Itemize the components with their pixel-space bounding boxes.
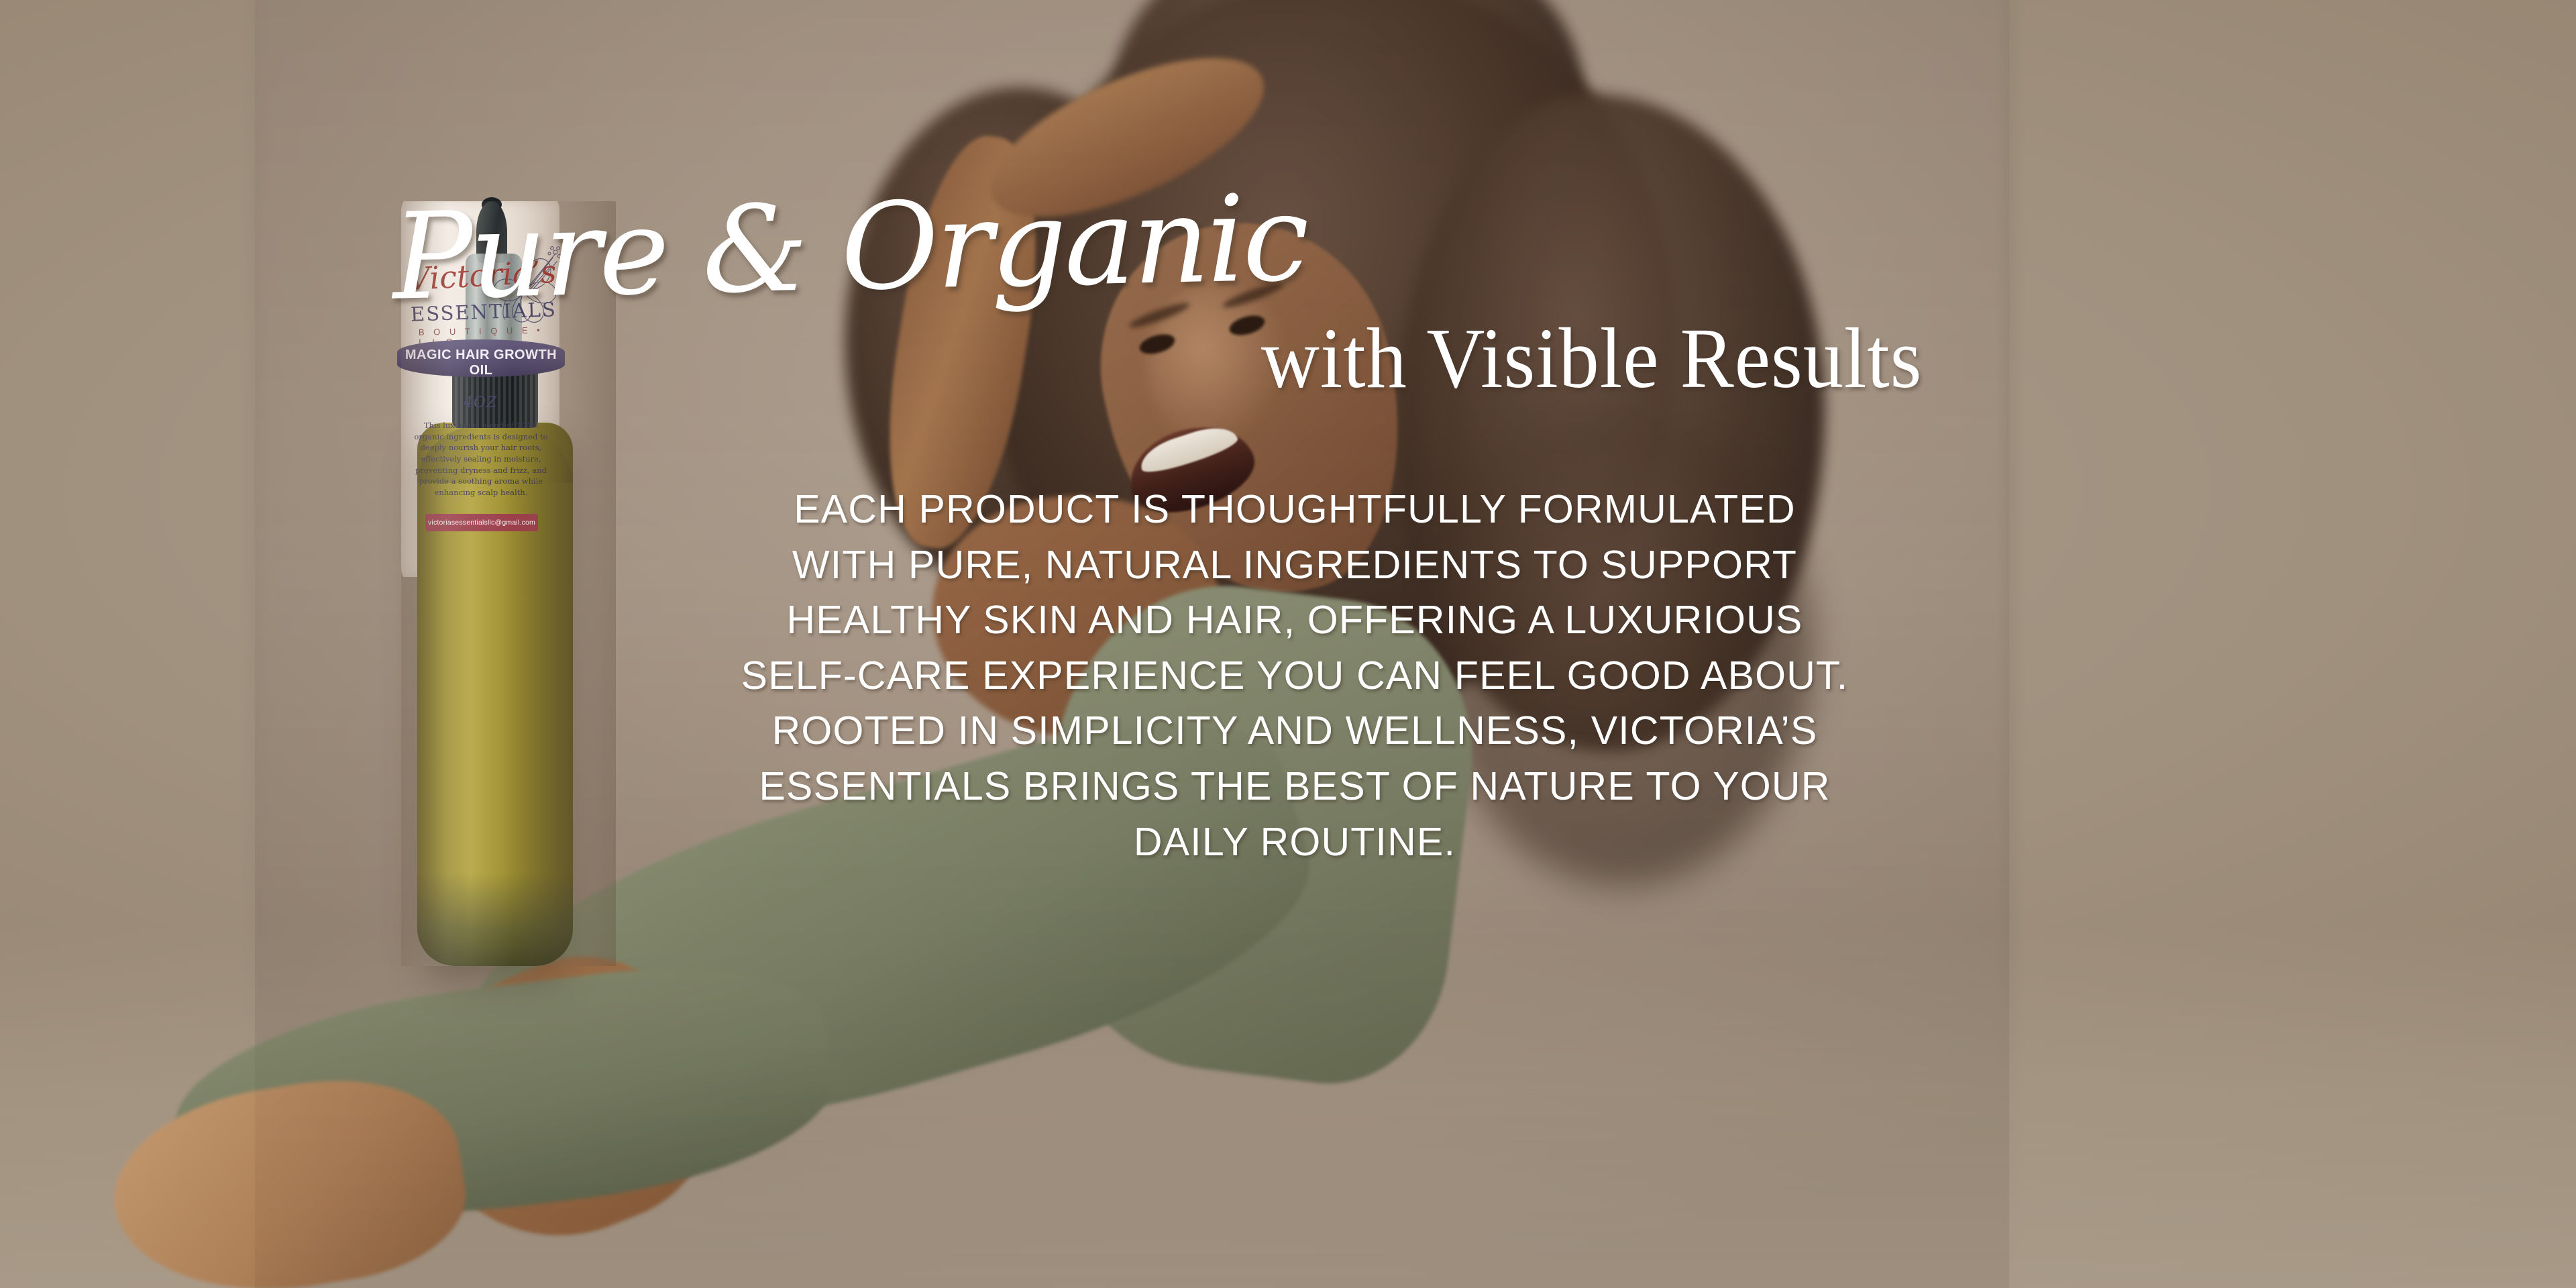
body-copy: EACH PRODUCT IS THOUGHTFULLY FORMULATED … [577, 482, 2012, 869]
body-line: SELF-CARE EXPERIENCE YOU CAN FEEL GOOD A… [577, 648, 2012, 704]
body-line: DAILY ROUTINE. [577, 814, 2012, 870]
label-contact-email: victoriasessentialsllc@gmail.com [425, 514, 538, 531]
label-size: 4OZ [401, 394, 559, 411]
promo-banner: Victoria’s ESSENTIALS B O U T I Q U E • … [0, 0, 2576, 1288]
headline-serif: with Visible Results [1261, 315, 1922, 401]
body-line: ROOTED IN SIMPLICITY AND WELLNESS, VICTO… [577, 703, 2012, 759]
label-description: This luxurious blend of 100% organic ing… [412, 420, 550, 498]
bottle-base-shadow [417, 872, 573, 966]
body-line: ESSENTIALS BRINGS THE BEST OF NATURE TO … [577, 759, 2012, 814]
body-line: HEALTHY SKIN AND HAIR, OFFERING A LUXURI… [577, 592, 2012, 648]
body-line: WITH PURE, NATURAL INGREDIENTS TO SUPPOR… [577, 537, 2012, 593]
label-product-name: MAGIC HAIR GROWTH OIL [401, 347, 559, 378]
body-line: EACH PRODUCT IS THOUGHTFULLY FORMULATED [577, 482, 2012, 537]
headline-script: Pure & Organic [391, 178, 1332, 317]
